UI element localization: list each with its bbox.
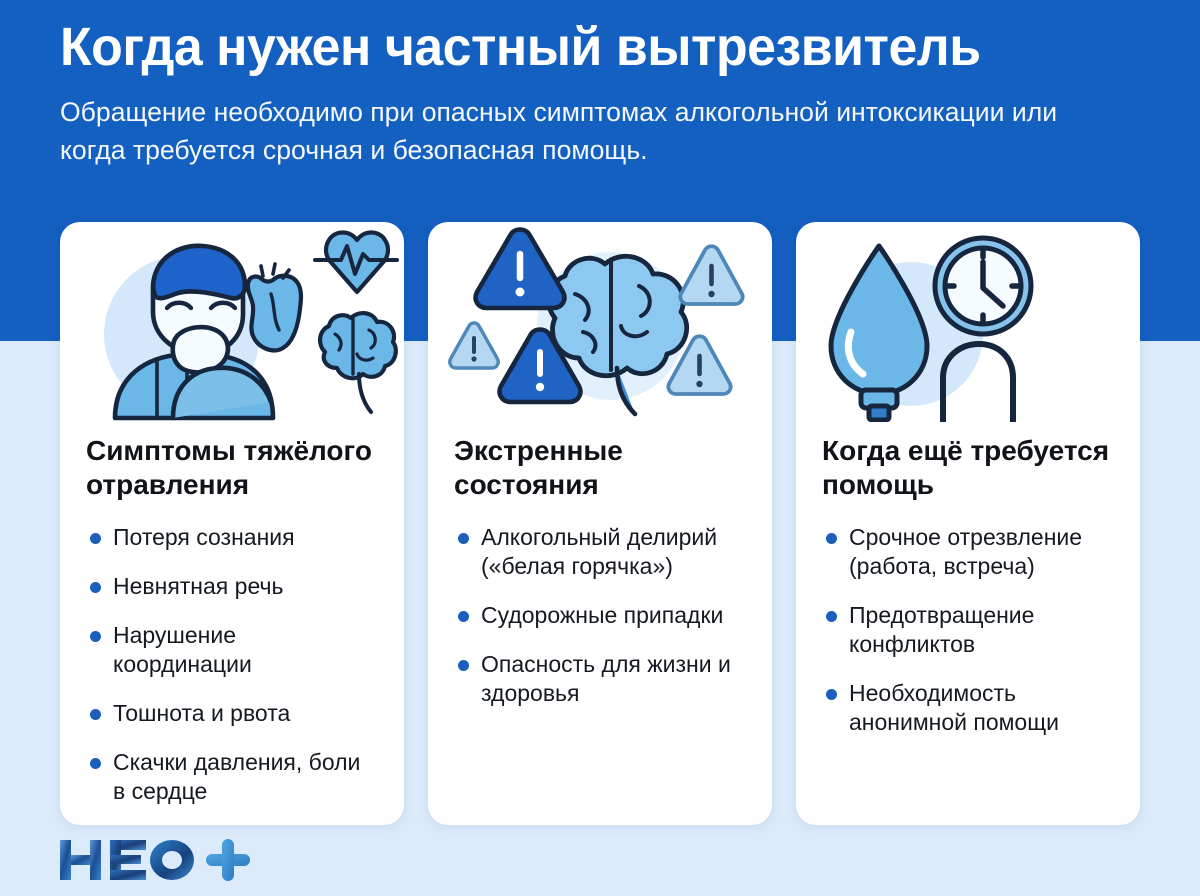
iv-drip-clock-illustration [796,222,1140,422]
list-item: Нарушение координации [86,621,378,679]
brain-icon [320,313,396,412]
list-item: Необходимость анонимной помощи [822,679,1114,737]
nauseated-person-heart-brain-illustration [60,222,404,422]
card-body: Симптомы тяжёлого отравления Потеря созн… [60,422,404,825]
list-item: Опасность для жизни и здоровья [454,650,746,708]
logo-letter-e [110,840,146,880]
heartbeat-pulse-icon [315,233,397,293]
anatomical-heart-icon [248,264,301,350]
neo-plus-logo[interactable] [60,838,256,882]
warning-triangle-icon [680,246,742,304]
list-item: Судорожные припадки [454,601,746,630]
infographic-page: Когда нужен частный вытрезвитель Обращен… [0,0,1200,896]
list-item: Потеря сознания [86,523,378,552]
brain-with-warning-triangles-illustration [428,222,772,422]
card-bullet-list: Срочное отрезвление (работа, встреча) Пр… [822,523,1114,737]
warning-triangle-icon [450,323,498,368]
list-item: Предотвращение конфликтов [822,601,1114,659]
logo-letter-n [60,840,101,880]
list-item: Срочное отрезвление (работа, встреча) [822,523,1114,581]
list-item: Тошнота и рвота [86,699,378,728]
card-title: Симптомы тяжёлого отравления [86,434,378,501]
card-bullet-list: Потеря сознания Невнятная речь Нарушение… [86,523,378,806]
card-title: Когда ещё требуется помощь [822,434,1114,501]
card-emergency-states[interactable]: Экстренные состояния Алкогольный делирий… [428,222,772,825]
logo-letter-o [150,840,194,880]
list-item: Алкогольный делирий («белая горячка») [454,523,746,581]
card-title: Экстренные состояния [454,434,746,501]
card-bullet-list: Алкогольный делирий («белая горячка») Су… [454,523,746,708]
page-subtitle: Обращение необходимо при опасных симптом… [60,94,1104,169]
card-body: Экстренные состояния Алкогольный делирий… [428,422,772,825]
cards-row: Симптомы тяжёлого отравления Потеря созн… [60,222,1140,825]
page-title: Когда нужен частный вытрезвитель [60,18,1097,76]
card-body: Когда ещё требуется помощь Срочное отрез… [796,422,1140,825]
list-item: Скачки давления, боли в сердце [86,748,378,806]
list-item: Невнятная речь [86,572,378,601]
logo-plus-icon [206,839,250,881]
clock-icon [935,238,1031,334]
card-severe-poisoning[interactable]: Симптомы тяжёлого отравления Потеря созн… [60,222,404,825]
card-when-else-help-needed[interactable]: Когда ещё требуется помощь Срочное отрез… [796,222,1140,825]
warning-triangle-icon [476,230,565,309]
